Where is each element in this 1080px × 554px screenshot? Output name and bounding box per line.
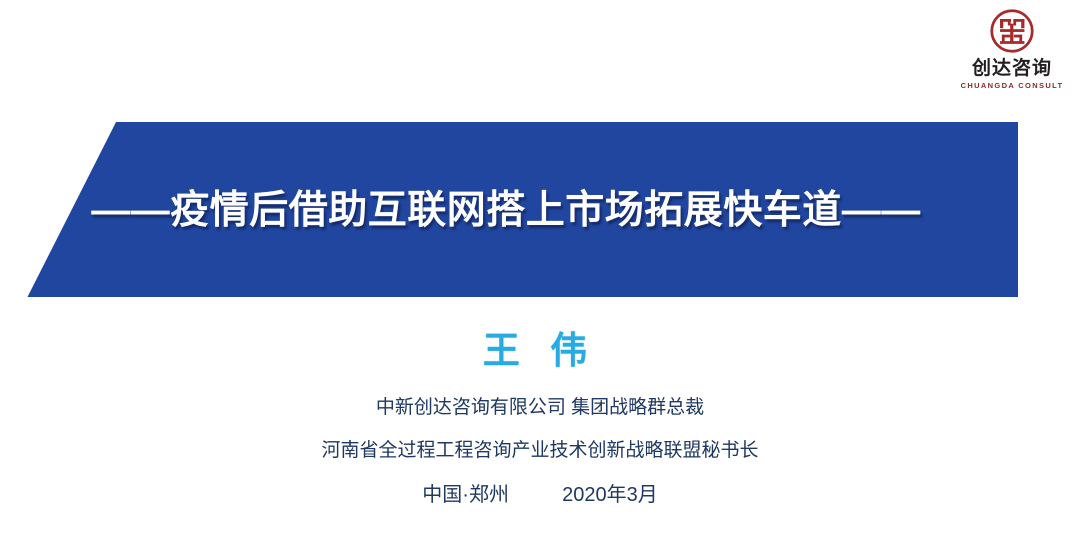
presenter-affiliation-line: 河南省全过程工程咨询产业技术创新战略联盟秘书长 — [0, 441, 1080, 460]
presenter-title-line: 中新创达咨询有限公司 集团战略群总裁 — [0, 398, 1080, 417]
presentation-slide: 创达咨询 CHUANGDA CONSULT ——疫情后借助互联网搭上市场拓展快车… — [0, 0, 1080, 554]
chuangda-seal-mark-icon — [989, 8, 1035, 54]
title-banner: ——疫情后借助互联网搭上市场拓展快车道—— — [0, 122, 1018, 297]
logo-company-name-en: CHUANGDA CONSULT — [961, 82, 1064, 90]
company-logo: 创达咨询 CHUANGDA CONSULT — [960, 8, 1064, 90]
presenter-details: 中新创达咨询有限公司 集团战略群总裁 河南省全过程工程咨询产业技术创新战略联盟秘… — [0, 398, 1080, 505]
logo-company-name-cn: 创达咨询 — [972, 59, 1052, 78]
presenter-name: 王 伟 — [0, 332, 1080, 369]
event-location: 中国·郑州 — [422, 484, 509, 506]
event-date: 2020年3月 — [562, 484, 658, 506]
slide-main-title: ——疫情后借助互联网搭上市场拓展快车道—— — [91, 186, 927, 233]
event-location-date: 中国·郑州 2020年3月 — [0, 485, 1080, 505]
